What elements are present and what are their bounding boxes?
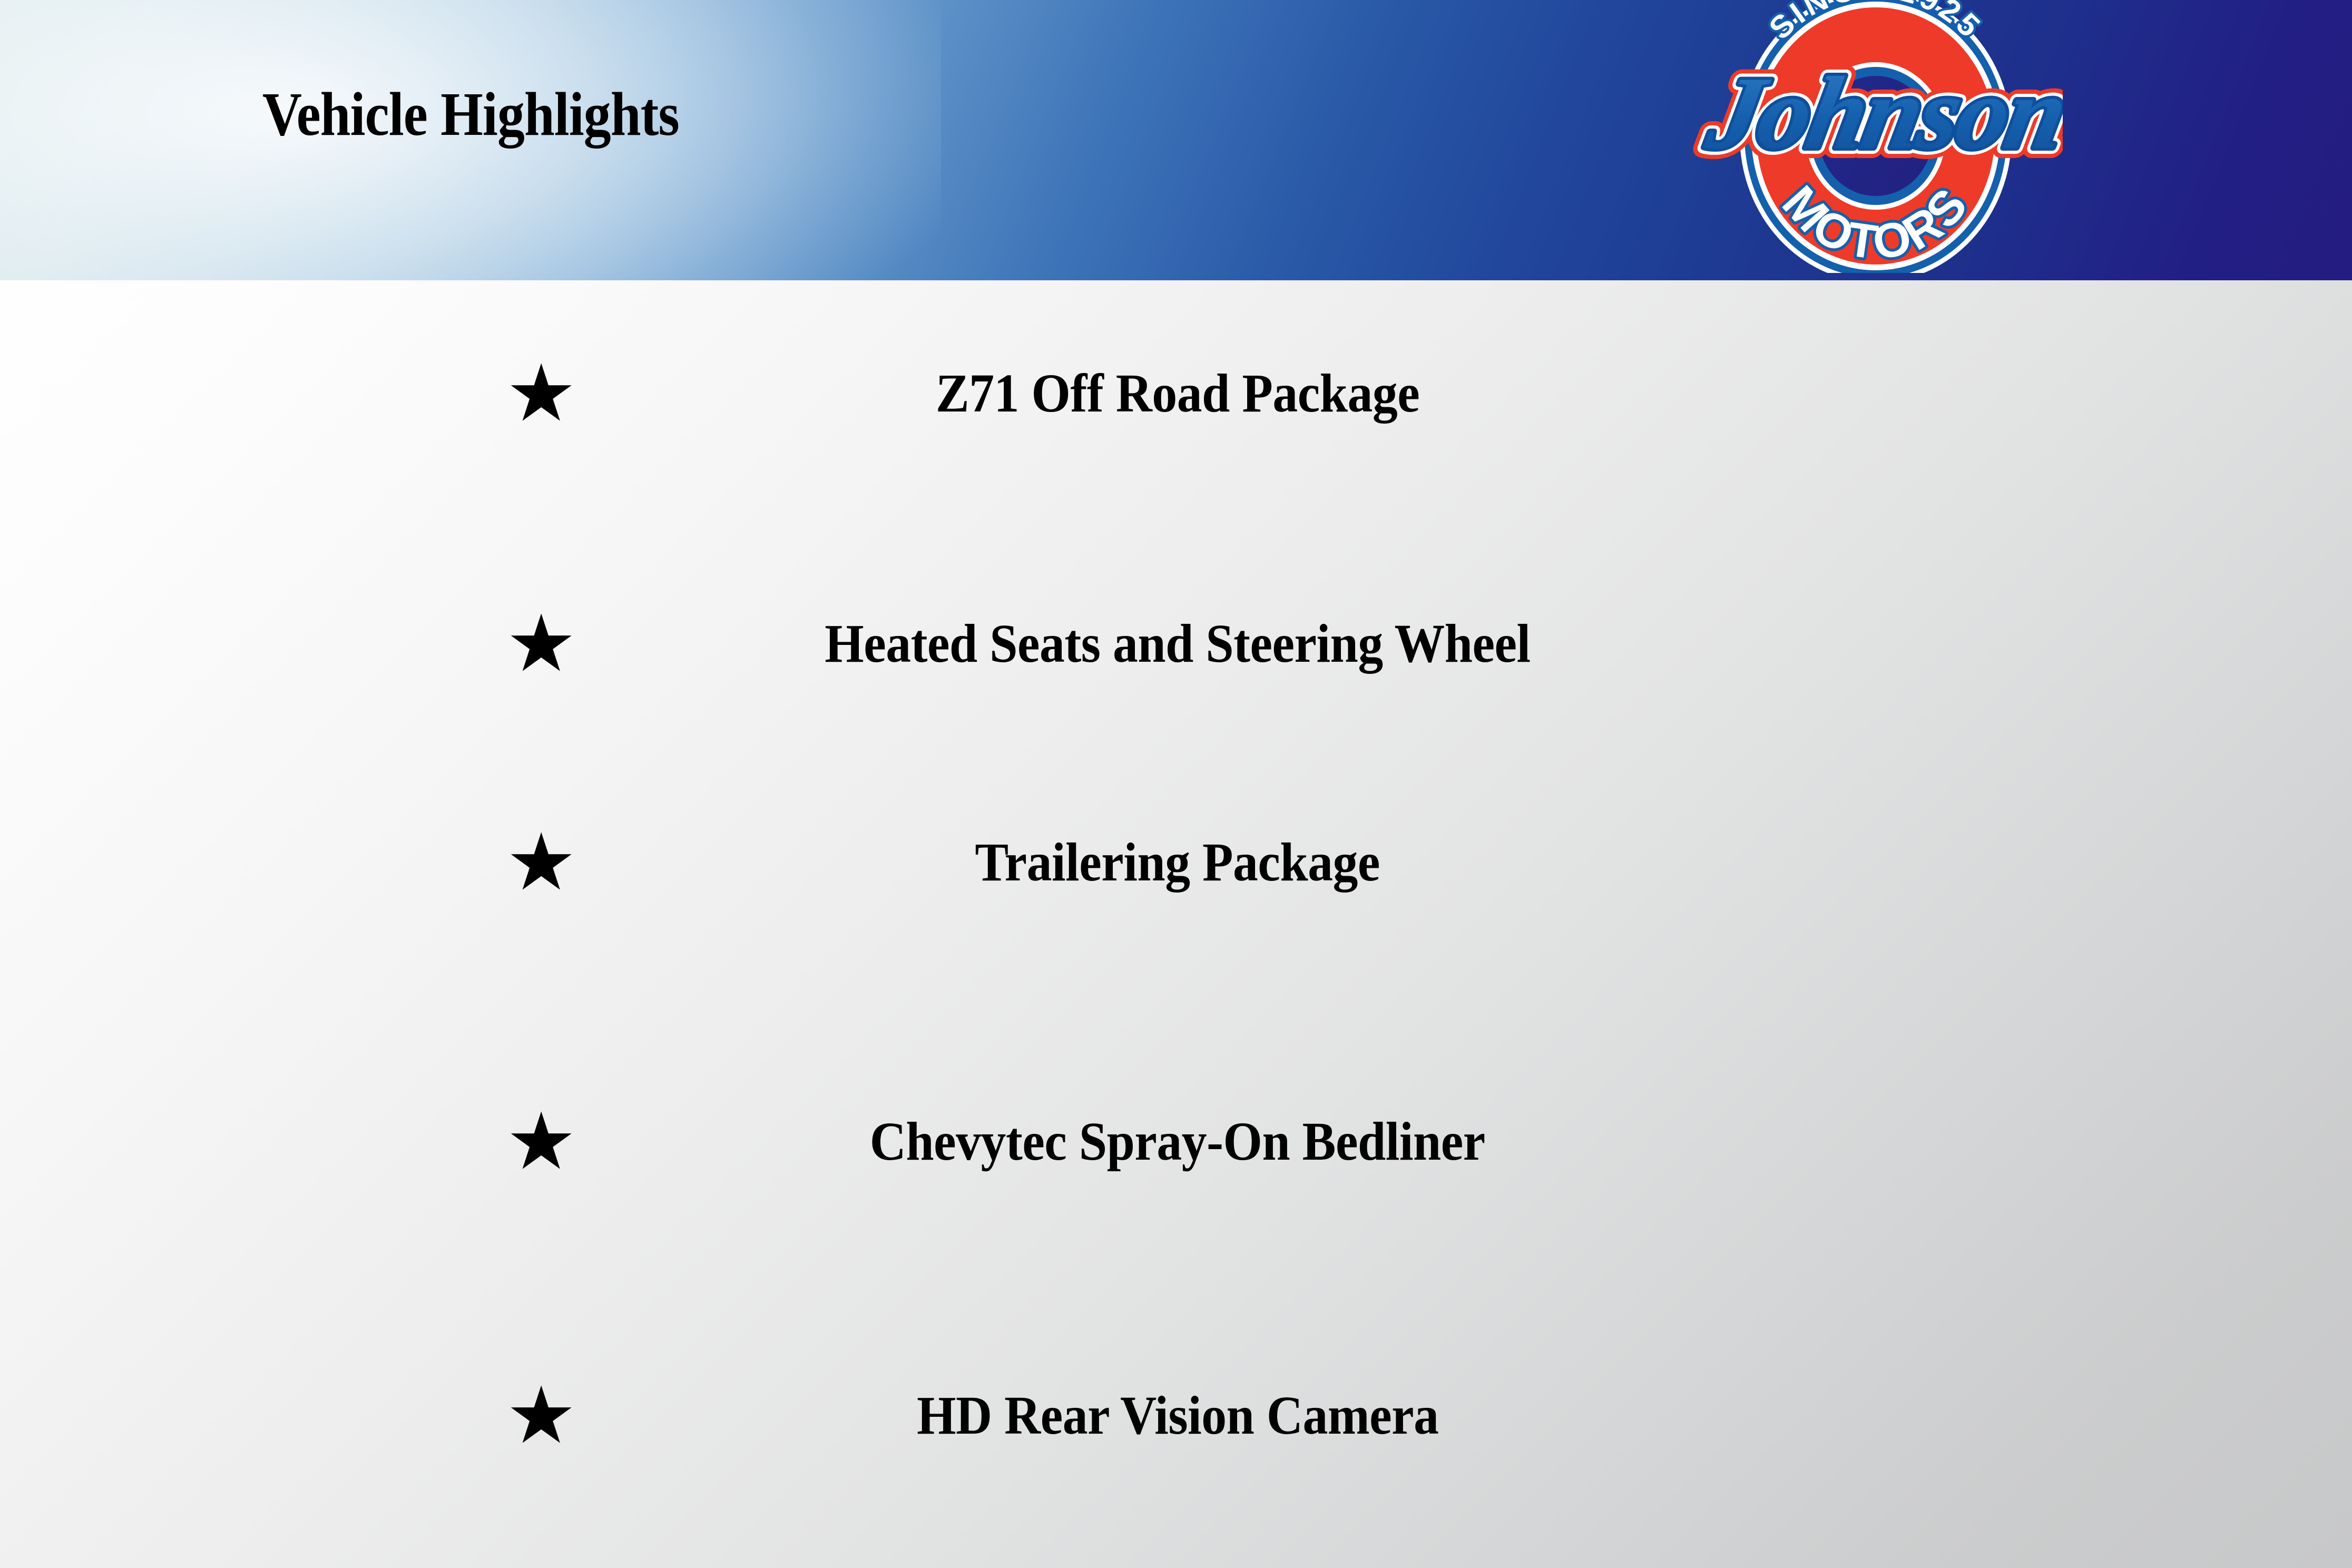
highlight-label-text: Chevytec Spray-On Bedliner	[870, 1111, 1485, 1172]
highlight-label: Heated Seats and Steering Wheel	[648, 613, 1707, 674]
highlight-label: Z71 Off Road Package	[648, 363, 1707, 424]
list-item: ★ HD Rear Vision Camera	[0, 1366, 2352, 1466]
list-item: ★ Z71 Off Road Package	[0, 344, 2352, 444]
svg-text:Johnson: Johnson	[1699, 56, 2063, 170]
star-icon: ★	[506, 823, 576, 902]
list-item: ★ Chevytec Spray-On Bedliner	[0, 1092, 2352, 1192]
star-icon: ★	[506, 1376, 576, 1455]
highlight-label-text: Trailering Package	[975, 832, 1380, 893]
johnson-motors-logo[interactable]: SINCE 1925 SINCE 1925 MOTORS MOTORS John…	[1689, 0, 2063, 273]
star-icon: ★	[506, 604, 576, 683]
logo-johnson-wordmark: Johnson Johnson Johnson Johnson	[1699, 56, 2063, 170]
slide-canvas: Vehicle Highlights	[0, 0, 2352, 1568]
list-item: ★ Heated Seats and Steering Wheel	[0, 565, 2352, 723]
page-title: Vehicle Highlights	[262, 83, 679, 145]
vehicle-highlights-list: ★ Z71 Off Road Package ★ Heated Seats an…	[0, 280, 2352, 1568]
highlight-label: Chevytec Spray-On Bedliner	[648, 1111, 1707, 1172]
highlight-label: Trailering Package	[648, 832, 1707, 893]
star-icon: ★	[506, 354, 576, 433]
highlight-label-text: Heated Seats and Steering Wheel	[825, 613, 1530, 674]
star-icon: ★	[506, 1102, 576, 1181]
highlight-label-text: Z71 Off Road Package	[936, 363, 1419, 424]
highlight-label: HD Rear Vision Camera	[648, 1385, 1707, 1446]
list-item: ★ Trailering Package	[0, 812, 2352, 913]
highlight-label-text: HD Rear Vision Camera	[917, 1385, 1438, 1446]
